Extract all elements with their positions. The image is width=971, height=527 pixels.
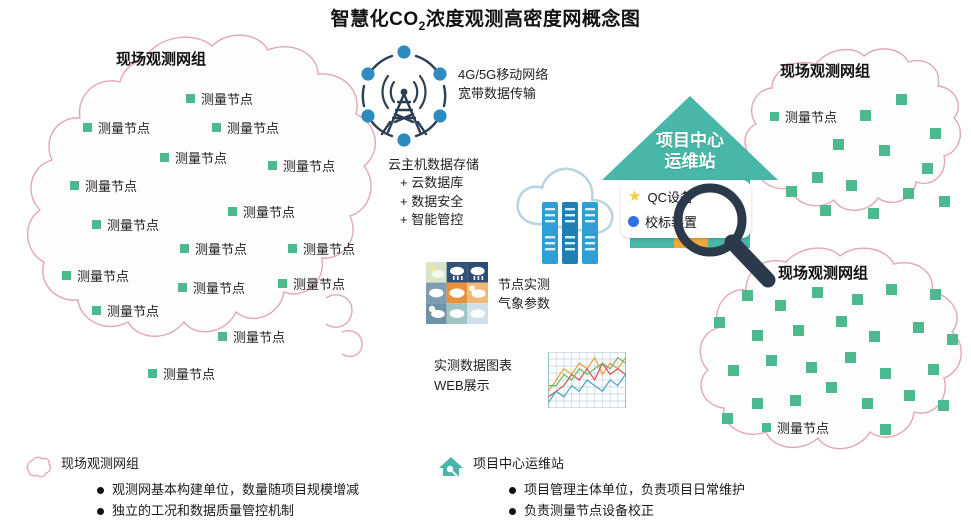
node-left-10[interactable]: 测量节点 (288, 239, 355, 258)
node-bottom-right-26[interactable] (722, 413, 733, 424)
node-top-right-9[interactable] (903, 188, 914, 199)
node-left-11[interactable]: 测量节点 (62, 266, 129, 285)
house-icon (438, 456, 464, 478)
node-bottom-right-17[interactable] (845, 352, 856, 363)
node-bottom-right-4[interactable] (852, 294, 863, 305)
legend-project-center: 项目中心运维站 项目管理主体单位，负责项目日常维护 负责测量节点设备校正 (438, 456, 745, 521)
node-square-icon (178, 283, 187, 292)
node-bottom-right-2[interactable] (775, 300, 786, 311)
cloud-storage-line-4: + 智能管控 (400, 211, 479, 229)
node-label: 测量节点 (283, 156, 335, 175)
cloud-left-observation-network: 现场观测网组 (26, 32, 386, 404)
node-left-4[interactable]: 测量节点 (160, 148, 227, 167)
node-square-icon (180, 244, 189, 253)
cloud-outline-icon (26, 456, 52, 478)
node-square-icon (288, 244, 297, 253)
cloud-top-right-title: 现场观测网组 (780, 60, 870, 81)
node-bottom-right-11[interactable] (913, 322, 924, 333)
node-square-icon (62, 271, 71, 280)
node-bottom-right-25[interactable] (938, 400, 949, 411)
node-bottom-right-5[interactable] (886, 284, 897, 295)
node-square-icon (92, 306, 101, 315)
cloud-storage-line-1: 云主机数据存储 (388, 156, 479, 174)
magnifier-icon (668, 180, 784, 296)
legend-right-head: 项目中心运维站 (438, 456, 745, 478)
node-square-icon (762, 423, 771, 432)
node-label: 测量节点 (98, 118, 150, 137)
node-bottom-right-12[interactable] (947, 334, 958, 345)
legend-left-bullet-1: 观测网基本构建单位，数量随项目规模增减 (97, 479, 359, 500)
node-square-icon (278, 279, 287, 288)
node-top-right-5[interactable] (879, 145, 890, 156)
node-left-12[interactable]: 测量节点 (178, 278, 245, 297)
node-label: 测量节点 (77, 266, 129, 285)
weather-params-text: 节点实测 气象参数 (498, 276, 550, 314)
node-label: 测量节点 (107, 301, 159, 320)
node-bottom-right-7[interactable] (752, 330, 763, 341)
star-icon: ★ (628, 189, 641, 204)
legend-field-network: 现场观测网组 观测网基本构建单位，数量随项目规模增减 独立的工况和数据质量管控机… (26, 456, 359, 521)
legend-right-bullet-2: 负责测量节点设备校正 (509, 500, 745, 521)
node-square-icon (212, 123, 221, 132)
node-bottom-right-21[interactable] (790, 395, 801, 406)
cell-tower-icon (352, 44, 456, 148)
legend-left-bullets: 观测网基本构建单位，数量随项目规模增减 独立的工况和数据质量管控机制 (57, 479, 359, 521)
cloud-storage-text: 云主机数据存储 + 云数据库 + 数据安全 + 智能管控 (388, 156, 479, 230)
mobile-network-line-2: 宽带数据传输 (458, 85, 548, 104)
node-bottom-right-22[interactable] (826, 382, 837, 393)
page-title-subscript: 2 (419, 19, 426, 33)
node-label: 测量节点 (107, 215, 159, 234)
blue-dot-icon (628, 216, 639, 227)
page-title-pre: 智慧化CO (331, 9, 419, 30)
line-chart-icon (548, 352, 626, 408)
node-top-right-7[interactable] (812, 172, 823, 183)
node-left-2[interactable]: 测量节点 (83, 118, 150, 137)
node-label: 测量节点 (175, 148, 227, 167)
legend-left-title: 现场观测网组 (61, 456, 139, 472)
node-left-14[interactable]: 测量节点 (92, 301, 159, 320)
node-top-right-labeled[interactable]: 测量节点 (770, 107, 837, 126)
node-label: 测量节点 (785, 107, 837, 126)
node-top-right-8[interactable] (846, 180, 857, 191)
legend-right-title: 项目中心运维站 (473, 456, 564, 472)
node-left-9[interactable]: 测量节点 (180, 239, 247, 258)
weather-line-2: 气象参数 (498, 295, 550, 314)
node-bottom-right-23[interactable] (862, 398, 873, 409)
page-title: 智慧化CO2浓度观测高密度网概念图 (0, 4, 971, 33)
node-square-icon (268, 161, 277, 170)
node-label: 测量节点 (201, 89, 253, 108)
node-bottom-right-27[interactable] (880, 424, 891, 435)
node-bottom-right-3[interactable] (812, 287, 823, 298)
node-label: 测量节点 (193, 278, 245, 297)
cloud-shape-left (26, 32, 386, 404)
node-square-icon (228, 207, 237, 216)
node-label: 测量节点 (227, 118, 279, 137)
concept-diagram: 智慧化CO2浓度观测高密度网概念图 现场观测网组 测量节点 测量节点 测量节点 … (0, 0, 971, 527)
mobile-network-block (352, 44, 456, 153)
node-bottom-right-13[interactable] (714, 317, 725, 328)
legend-right-bullets: 项目管理主体单位，负责项目日常维护 负责测量节点设备校正 (469, 479, 745, 521)
node-top-right-6[interactable] (833, 139, 844, 150)
node-bottom-right-20[interactable] (752, 398, 763, 409)
node-bottom-right-16[interactable] (806, 362, 817, 373)
node-left-8[interactable]: 测量节点 (92, 215, 159, 234)
node-left-13[interactable]: 测量节点 (278, 274, 345, 293)
web-chart-line-1: 实测数据图表 (434, 356, 512, 376)
weather-params-block (426, 262, 488, 329)
node-left-7[interactable]: 测量节点 (228, 202, 295, 221)
cloud-storage-line-3: + 数据安全 (400, 193, 479, 211)
node-top-right-10[interactable] (868, 208, 879, 219)
web-chart-line-2: WEB展示 (434, 376, 512, 396)
node-square-icon (218, 332, 227, 341)
node-bottom-right-6[interactable] (930, 289, 941, 300)
legend-left-head: 现场观测网组 (26, 456, 359, 478)
node-square-icon (70, 181, 79, 190)
node-label: 测量节点 (233, 327, 285, 346)
node-bottom-right-9[interactable] (836, 316, 847, 327)
weather-line-1: 节点实测 (498, 276, 550, 295)
node-left-5[interactable]: 测量节点 (268, 156, 335, 175)
node-bottom-right-19[interactable] (928, 364, 939, 375)
server-racks (542, 202, 598, 264)
node-bottom-right-18[interactable] (880, 368, 891, 379)
cloud-tail-bubble-small (342, 331, 362, 357)
node-label: 测量节点 (195, 239, 247, 258)
node-bottom-right-8[interactable] (793, 325, 804, 336)
node-label: 测量节点 (243, 202, 295, 221)
node-top-right-13[interactable] (820, 205, 831, 216)
node-bottom-right-15[interactable] (766, 355, 777, 366)
node-label: 测量节点 (163, 364, 215, 383)
legend-left-bullet-2: 独立的工况和数据质量管控机制 (97, 500, 359, 521)
node-bottom-right-labeled[interactable]: 测量节点 (762, 418, 829, 437)
cloud-storage-line-2: + 云数据库 (400, 174, 479, 192)
node-left-16[interactable]: 测量节点 (148, 364, 215, 383)
page-title-post: 浓度观测高密度网概念图 (426, 9, 641, 30)
node-top-right-1[interactable] (896, 94, 907, 105)
cloud-tail-bubble-big (326, 295, 352, 327)
node-square-icon (92, 220, 101, 229)
node-bottom-right-10[interactable] (869, 331, 880, 342)
node-top-right-4[interactable] (922, 163, 933, 174)
node-label: 测量节点 (85, 176, 137, 195)
node-top-right-3[interactable] (930, 128, 941, 139)
web-chart-text: 实测数据图表 WEB展示 (434, 356, 512, 395)
node-square-icon (83, 123, 92, 132)
node-square-icon (186, 94, 195, 103)
web-chart-block[interactable] (548, 352, 626, 413)
weather-glyphs (429, 266, 486, 318)
mobile-network-line-1: 4G/5G移动网络 (458, 66, 548, 85)
node-label: 测量节点 (303, 239, 355, 258)
node-left-1[interactable]: 测量节点 (186, 89, 253, 108)
node-label: 测量节点 (777, 418, 829, 437)
node-label: 测量节点 (293, 274, 345, 293)
node-top-right-12[interactable] (939, 196, 950, 207)
weather-grid-icon (426, 262, 488, 324)
node-left-3[interactable]: 测量节点 (212, 118, 279, 137)
cloud-bottom-right-title: 现场观测网组 (778, 262, 868, 283)
node-left-6[interactable]: 测量节点 (70, 176, 137, 195)
node-square-icon (148, 369, 157, 378)
legend-right-bullet-1: 项目管理主体单位，负责项目日常维护 (509, 479, 745, 500)
cloud-left-title: 现场观测网组 (116, 48, 206, 69)
node-left-15[interactable]: 测量节点 (218, 327, 285, 346)
node-bottom-right-14[interactable] (728, 365, 739, 376)
node-top-right-2[interactable] (860, 110, 871, 121)
node-bottom-right-24[interactable] (904, 390, 915, 401)
mobile-network-text: 4G/5G移动网络 宽带数据传输 (458, 66, 548, 104)
node-square-icon (160, 153, 169, 162)
node-top-right-11[interactable] (786, 186, 797, 197)
